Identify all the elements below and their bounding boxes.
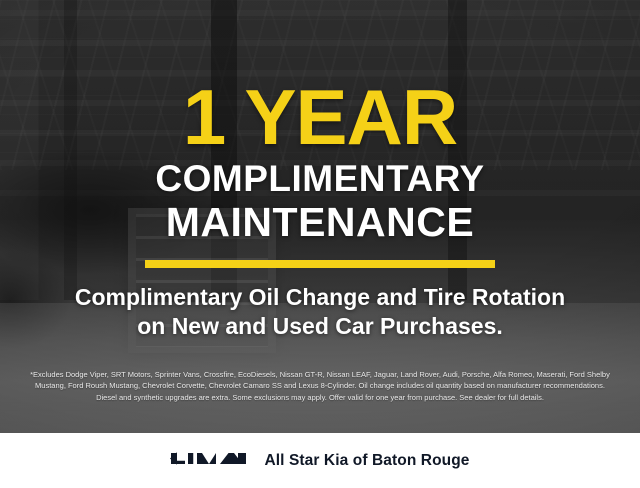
yellow-divider-bar: [145, 260, 495, 268]
disclaimer-line-1: *Excludes Dodge Viper, SRT Motors, Sprin…: [10, 369, 630, 381]
tagline-line-1: Complimentary Oil Change and Tire Rotati…: [75, 283, 565, 312]
disclaimer-line-2: Mustang, Ford Roush Mustang, Chevrolet C…: [10, 380, 630, 392]
banner-content: 1 YEAR COMPLIMENTARY MAINTENANCE Complim…: [0, 0, 640, 488]
promotional-banner: 1 YEAR COMPLIMENTARY MAINTENANCE Complim…: [0, 0, 640, 488]
disclaimer-fine-print: *Excludes Dodge Viper, SRT Motors, Sprin…: [10, 369, 630, 404]
disclaimer-line-3: Diesel and synthetic upgrades are extra.…: [10, 392, 630, 404]
subheading-complimentary: COMPLIMENTARY: [155, 160, 484, 197]
footer-bar: All Star Kia of Baton Rouge: [0, 433, 640, 488]
dealer-name: All Star Kia of Baton Rouge: [264, 452, 469, 470]
tagline: Complimentary Oil Change and Tire Rotati…: [75, 283, 565, 342]
kia-logo-icon: [170, 447, 246, 475]
headline-one-year: 1 YEAR: [183, 82, 457, 154]
subheading-maintenance: MAINTENANCE: [166, 202, 474, 243]
tagline-line-2: on New and Used Car Purchases.: [75, 312, 565, 341]
